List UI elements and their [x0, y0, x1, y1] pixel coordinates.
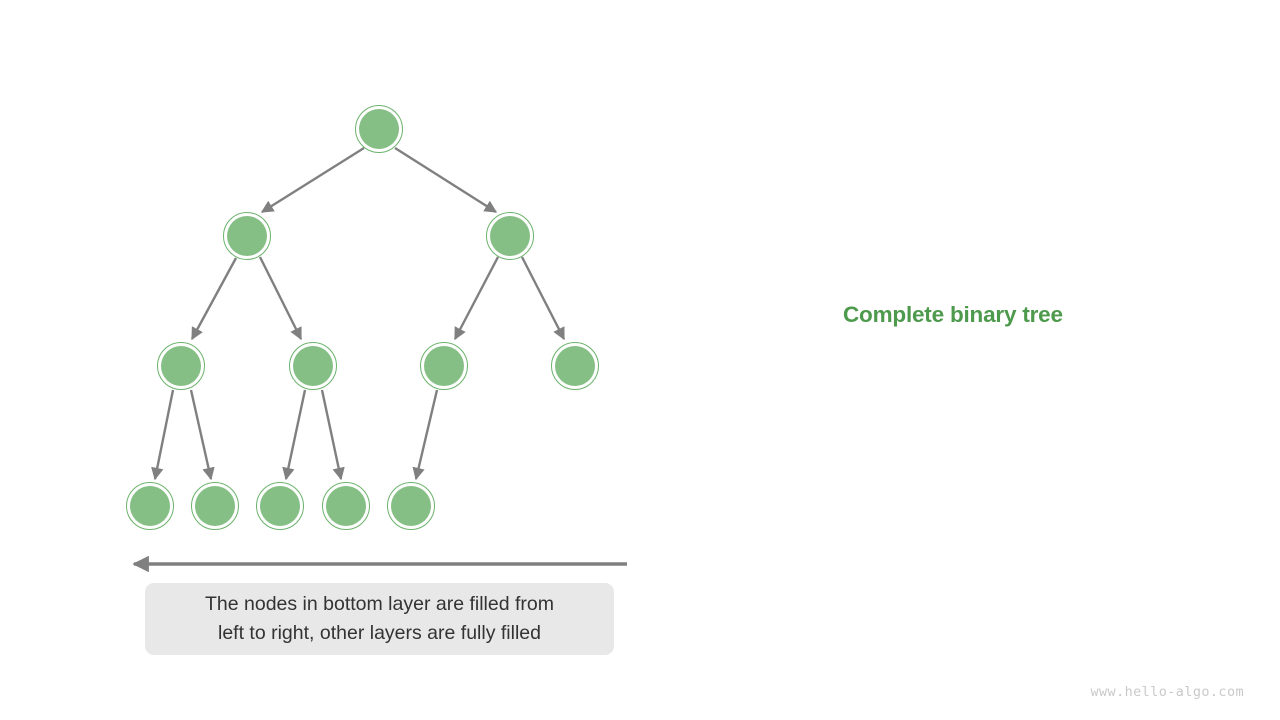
tree-edge: [260, 257, 301, 339]
tree-edge: [455, 257, 498, 339]
tree-node-l2-0-core: [161, 346, 201, 386]
tree-node-l1-0-core: [227, 216, 267, 256]
tree-node-l3-4-core: [391, 486, 431, 526]
tree-node-l3-0-core: [130, 486, 170, 526]
tree-node-l2-2-core: [424, 346, 464, 386]
diagram-title: Complete binary tree: [843, 302, 1063, 328]
tree-node-l3-3-core: [326, 486, 366, 526]
tree-edge: [395, 148, 496, 212]
watermark: www.hello-algo.com: [1091, 684, 1245, 700]
caption-box: The nodes in bottom layer are filled fro…: [145, 583, 614, 655]
tree-edge: [416, 390, 437, 479]
tree-edge-layer: [155, 148, 564, 479]
tree-edge: [322, 390, 341, 479]
tree-node-l2-1-core: [293, 346, 333, 386]
tree-edge: [286, 390, 305, 479]
tree-edge: [522, 257, 564, 339]
tree-edge: [262, 148, 364, 212]
tree-edge: [192, 258, 236, 339]
tree-node-l3-2-core: [260, 486, 300, 526]
tree-node-root-core: [359, 109, 399, 149]
tree-edge: [191, 390, 211, 479]
caption-text: The nodes in bottom layer are filled fro…: [193, 590, 566, 648]
tree-node-l1-1-core: [490, 216, 530, 256]
caption-line-1: The nodes in bottom layer are filled fro…: [205, 593, 554, 615]
tree-edge: [155, 390, 173, 479]
caption-line-2: left to right, other layers are fully fi…: [218, 622, 541, 644]
tree-node-l3-1-core: [195, 486, 235, 526]
tree-node-l2-3-core: [555, 346, 595, 386]
